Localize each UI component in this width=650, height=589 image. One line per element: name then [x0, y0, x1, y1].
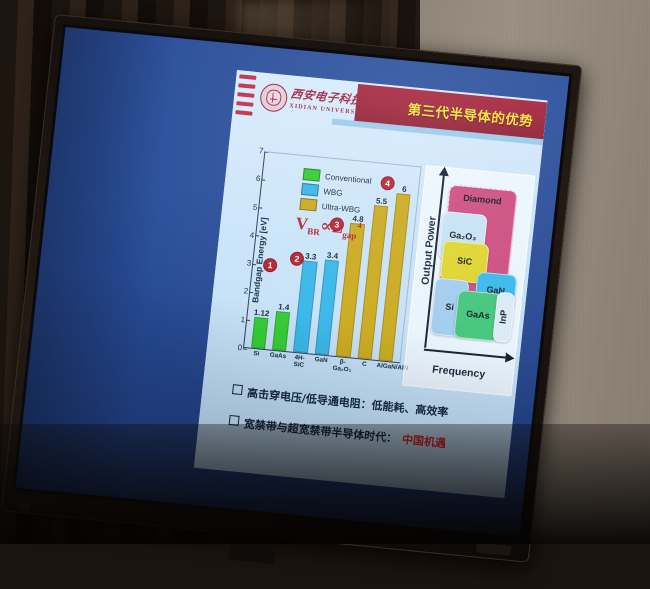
foreground-shadow: [0, 424, 650, 544]
y-tick-6: 6: [242, 173, 261, 184]
y-tick-1: 1: [227, 313, 246, 324]
x-label-β-Ga₂O₃: β-Ga₂O₃: [332, 359, 353, 379]
x-label-C: C: [353, 361, 374, 381]
y-tick-7: 7: [245, 145, 264, 156]
legend-swatch-conventional: [303, 168, 321, 182]
x-label-GaN: GaN: [310, 357, 331, 377]
bar-value-GaAs: 1.4: [278, 302, 290, 312]
x-label-AlGaN/AlN: AlGaN/AlN: [375, 363, 396, 383]
diagram-x-axis: [424, 349, 508, 359]
bar-GaAs: 1.4: [272, 311, 290, 351]
legend-label-ultra-wbg: Ultra-WBG: [321, 201, 360, 214]
legend-label-conventional: Conventional: [325, 172, 372, 186]
bar-value-Si: 1.12: [253, 307, 269, 317]
y-tick-5: 5: [239, 201, 258, 212]
square-bullet-icon: [232, 384, 243, 395]
bar-value-C: 5.5: [375, 196, 387, 206]
bandgap-bar-chart: Bandgap Energy [eV] 01234567 Conventiona…: [210, 142, 424, 389]
diagram-x-axis-label: Frequency: [404, 361, 513, 383]
bar-value-AlGaN/AlN: 6: [402, 185, 407, 194]
monitor-foot: [476, 543, 511, 556]
x-label-4H-SiC: 4H-SiC: [288, 355, 309, 375]
header-strips-decoration: [235, 74, 257, 120]
legend-label-wbg: WBG: [323, 187, 343, 198]
chart-legend: Conventional WBG Ultra-WBG: [299, 168, 372, 219]
legend-item: Ultra-WBG: [299, 198, 369, 217]
chart-plot-area: Conventional WBG Ultra-WBG: [243, 151, 422, 363]
bar-Si: 1.12: [251, 316, 269, 349]
x-label-GaAs: GaAs: [267, 352, 288, 372]
region-inp-label: InP: [498, 310, 509, 325]
legend-swatch-wbg: [301, 183, 319, 197]
bar-value-GaN: 3.4: [326, 251, 338, 261]
university-seal-icon: [259, 83, 289, 113]
y-tick-2: 2: [230, 285, 249, 296]
y-tick-4: 4: [236, 229, 255, 240]
slide-title: 第三代半导体的优势: [407, 97, 535, 129]
bar-value-4H-SiC: 3.3: [305, 251, 317, 261]
y-tick-3: 3: [233, 257, 252, 268]
figure-area: Bandgap Energy [eV] 01234567 Conventiona…: [210, 142, 533, 400]
y-tick-0: 0: [224, 342, 243, 353]
region-inp: InP: [492, 292, 515, 343]
legend-swatch-ultra-wbg: [299, 198, 317, 212]
x-label-Si: Si: [245, 350, 266, 370]
